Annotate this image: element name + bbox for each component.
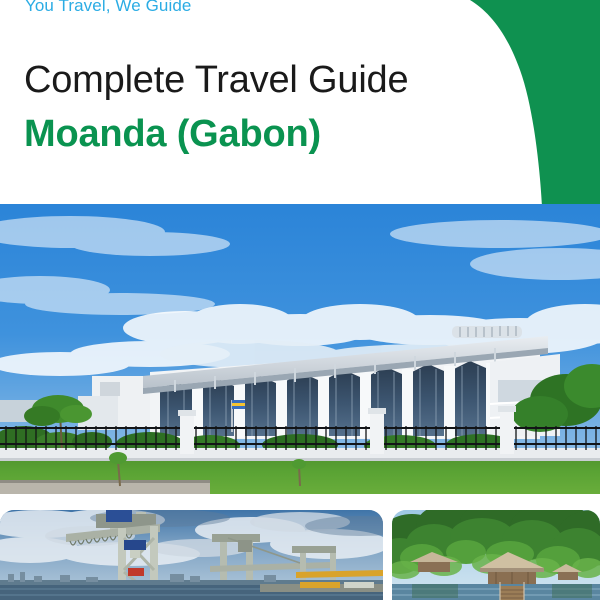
destination-title: Moanda (Gabon) xyxy=(24,113,321,156)
green-corner-decoration xyxy=(410,0,600,204)
thumbnail-port-cranes xyxy=(0,510,383,600)
page-title: Complete Travel Guide xyxy=(24,59,408,102)
hero-photo xyxy=(0,204,600,494)
thumbnail-jungle-lodge xyxy=(392,510,600,600)
cover-header: You Travel, We Guide Complete Travel Gui… xyxy=(0,0,600,204)
tagline: You Travel, We Guide xyxy=(25,0,191,16)
thumbnail-strip xyxy=(0,510,600,600)
travel-guide-cover: You Travel, We Guide Complete Travel Gui… xyxy=(0,0,600,600)
